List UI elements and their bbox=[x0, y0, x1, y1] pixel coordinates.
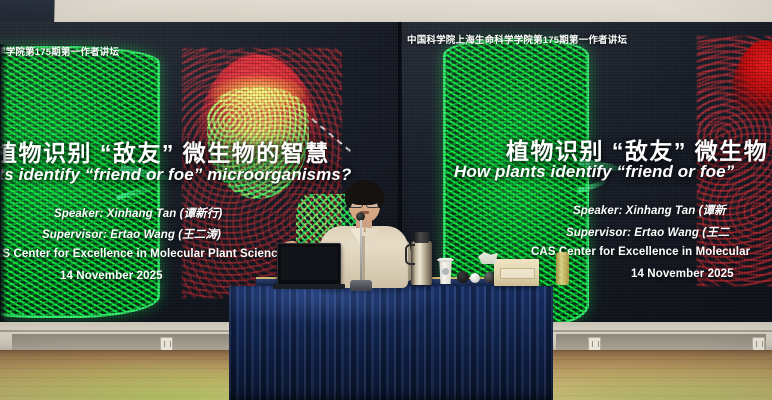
left-slide-title-cn: 植物识别 “敌友” 微生物的智慧 bbox=[0, 134, 330, 168]
tissue-box[interactable] bbox=[494, 259, 539, 286]
table-skirt bbox=[229, 286, 553, 400]
laptop-screen[interactable] bbox=[281, 247, 337, 280]
microphone-base bbox=[350, 280, 372, 291]
right-slide-header: 中国科学院上海生命科学学院第175期第一作者讲坛 bbox=[407, 32, 627, 46]
thermos-flask[interactable] bbox=[411, 232, 432, 285]
laptop[interactable] bbox=[277, 243, 341, 285]
microphone-stem bbox=[360, 220, 363, 282]
left-slide-affiliation: AS Center for Excellence in Molecular Pl… bbox=[0, 248, 291, 260]
thermos-lid bbox=[414, 232, 429, 243]
wall-outlet bbox=[160, 337, 173, 351]
laptop-base bbox=[273, 284, 345, 289]
left-slide-header: 学学院第175期第一作者讲坛 bbox=[0, 44, 119, 58]
left-slide-speaker: Speaker: Xinhang Tan (谭新行) bbox=[54, 205, 222, 221]
gold-bottle[interactable] bbox=[556, 252, 569, 285]
left-slide-title-en: nts identify “friend or foe” microorgani… bbox=[0, 165, 351, 185]
desk-puck-white[interactable] bbox=[470, 273, 480, 283]
presenter-hair-side bbox=[377, 189, 384, 208]
desk-puck-black[interactable] bbox=[457, 271, 469, 283]
left-slide-date: 14 November 2025 bbox=[60, 270, 163, 282]
laptop-lid bbox=[277, 243, 341, 285]
shirt-placket bbox=[362, 236, 365, 284]
right-slide-title-cn: 植物识别 “敌友” 微生物 bbox=[506, 132, 768, 166]
right-slide-speaker: Speaker: Xinhang Tan (谭新 bbox=[573, 202, 726, 218]
right-slide-title-en: How plants identify “friend or foe” bbox=[454, 162, 734, 182]
paper-cup-rim bbox=[437, 258, 454, 262]
lecture-hall-photo: 学学院第175期第一作者讲坛 植物识别 “敌友” 微生物的智慧 nts iden… bbox=[0, 0, 772, 400]
paper-cup-logo bbox=[442, 268, 449, 275]
wall-outlet bbox=[752, 337, 765, 351]
table-skirt-highlight bbox=[229, 286, 553, 400]
right-slide-supervisor: Supervisor: Ertao Wang (王二 bbox=[566, 224, 729, 240]
wall-outlet bbox=[588, 337, 601, 351]
right-slide-date: 14 November 2025 bbox=[631, 268, 734, 280]
presenter-hair-side bbox=[345, 189, 352, 208]
left-slide-supervisor: Supervisor: Ertao Wang (王二涛) bbox=[42, 226, 221, 242]
tissue-box-label bbox=[500, 268, 535, 279]
wall-left-shadow bbox=[0, 44, 7, 322]
thermos-handle bbox=[405, 244, 415, 265]
